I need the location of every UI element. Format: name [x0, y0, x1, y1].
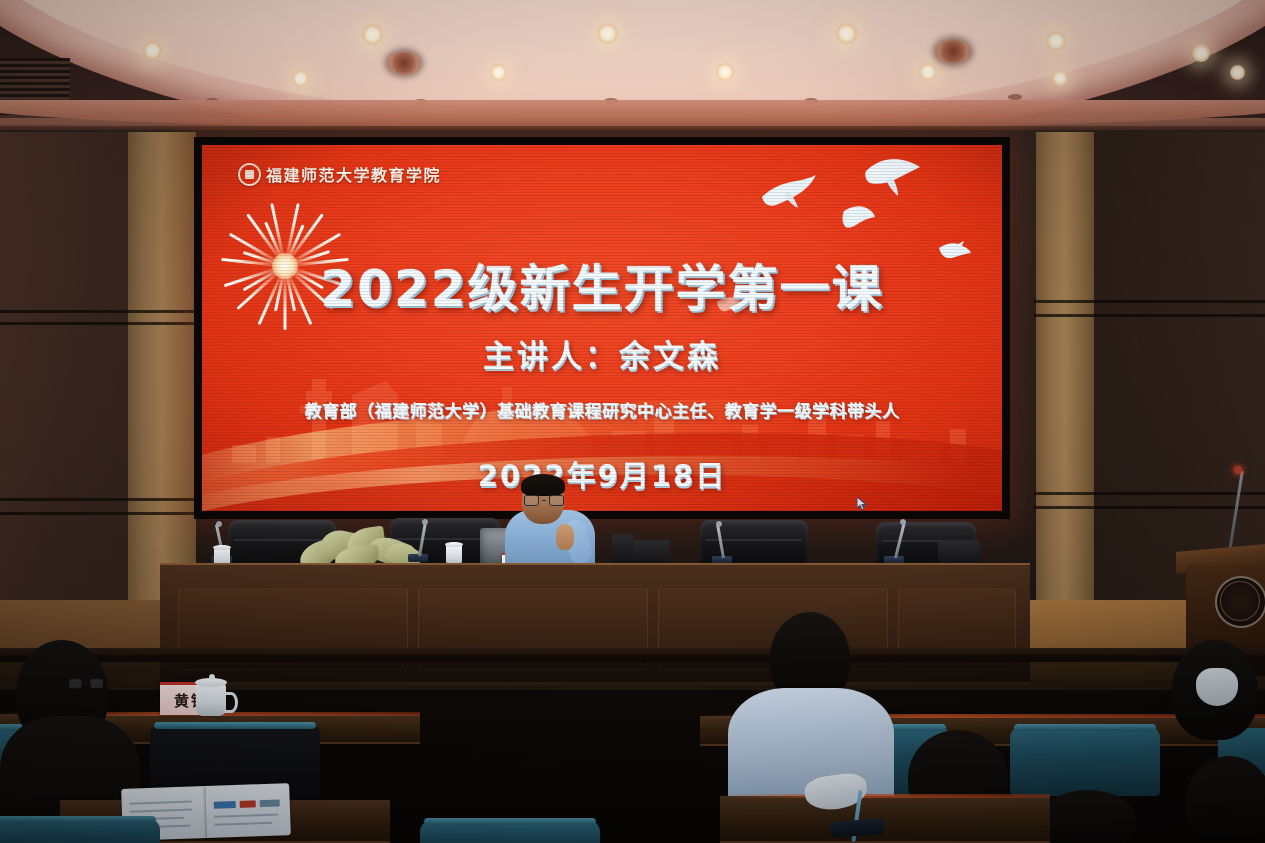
- ceiling-speaker-grille: [936, 40, 970, 63]
- ceiling-downlight: [597, 23, 618, 44]
- audience-desk: [720, 796, 1050, 843]
- microphone-head: [716, 521, 722, 527]
- speaker-hand: [556, 524, 574, 550]
- wall-reveal-line: [1034, 314, 1265, 317]
- university-emblem-icon: [1215, 576, 1265, 628]
- wall-reveal-line: [1034, 506, 1265, 509]
- screen-date: 2022年9月18日: [202, 453, 1002, 495]
- face-mask: [1196, 668, 1238, 706]
- screen-main-title: 2022级新生开学第一课: [202, 249, 1002, 321]
- led-screen-frame: 福建师范大学教育学院 2022级新生开学第一课 主讲人：余文森 教育部（福建师范…: [194, 137, 1010, 519]
- ceiling-downlight: [490, 64, 507, 81]
- ceiling-downlight: [1192, 44, 1210, 62]
- speaker-hair: [521, 474, 565, 496]
- microphone-head: [422, 519, 428, 525]
- microphone-head: [900, 519, 906, 525]
- ceiling-speaker-grille: [388, 52, 420, 74]
- photo-scene: 福建师范大学教育学院 2022级新生开学第一课 主讲人：余文森 教育部（福建师范…: [0, 0, 1265, 843]
- audience-seat-top: [0, 816, 156, 823]
- notebook-page-right: [205, 783, 291, 838]
- mouse-cursor-icon: [857, 497, 868, 511]
- teacup: [446, 545, 462, 565]
- ceiling-downlight: [362, 24, 383, 45]
- ceiling-downlight: [292, 70, 309, 87]
- screen-subtitle: 教育部（福建师范大学）基础教育课程研究中心主任、教育学一级学科带头人: [202, 397, 1002, 422]
- audience-seat: [1010, 726, 1160, 796]
- audience-seat-top: [424, 818, 596, 825]
- equipment-case: [612, 534, 634, 566]
- wall-reveal-line: [0, 322, 196, 325]
- screen-speaker-line: 主讲人：余文森: [202, 331, 1002, 376]
- dove-icon: [864, 157, 922, 197]
- screen-org-logo: 福建师范大学教育学院: [238, 162, 441, 186]
- audience-teacup: [196, 676, 230, 716]
- ceiling-downlight: [836, 23, 857, 44]
- audience-seat-top: [154, 722, 316, 729]
- led-screen: 福建师范大学教育学院 2022级新生开学第一课 主讲人：余文森 教育部（福建师范…: [202, 145, 1002, 511]
- university-seal-icon: [238, 163, 261, 186]
- wall-reveal-line: [0, 498, 196, 501]
- audience-glasses: [69, 679, 103, 688]
- teacup-lid: [445, 542, 463, 547]
- desk-edge-glow: [720, 794, 1050, 798]
- microphone-head: [216, 521, 222, 527]
- ceiling-downlight: [1052, 70, 1068, 86]
- audience-person-head: [1040, 790, 1136, 843]
- wall-reveal-line: [1034, 492, 1265, 495]
- ceiling-downlight: [1230, 65, 1245, 80]
- ceiling-downlight: [919, 63, 937, 81]
- ceiling-downlight: [143, 41, 162, 60]
- speaker-glasses: [524, 495, 564, 506]
- audience-person-head: [1186, 756, 1265, 843]
- wall-reveal-line: [1034, 300, 1265, 303]
- ceiling-downlight: [716, 63, 734, 81]
- podium-microphone-indicator: [1234, 466, 1242, 474]
- wall-reveal-line: [0, 512, 196, 515]
- dove-icon: [758, 175, 820, 209]
- wall-reveal-line: [0, 310, 196, 313]
- dove-icon: [842, 205, 876, 233]
- ceiling-downlight: [1046, 31, 1066, 51]
- screen-org-logo-text: 福建师范大学教育学院: [266, 162, 441, 186]
- audience-seat-top: [1014, 724, 1156, 731]
- teacup-lid: [213, 545, 231, 550]
- wall-pilaster-right: [1036, 132, 1094, 648]
